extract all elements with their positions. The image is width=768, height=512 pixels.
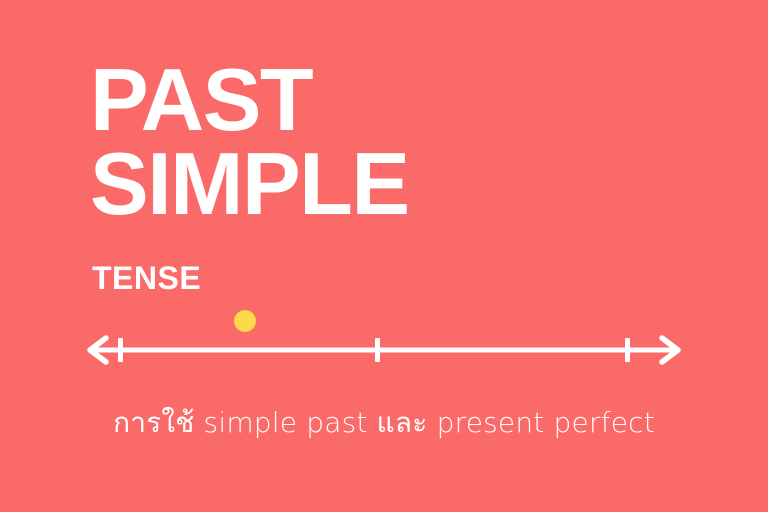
poster-canvas: PAST SIMPLE TENSE การใช้ simple past และ… — [0, 0, 768, 512]
timeline-tick-past — [118, 338, 123, 362]
timeline-svg — [84, 306, 684, 370]
timeline-tick-future — [625, 338, 630, 362]
title-line-past: PAST — [90, 58, 690, 142]
subtitle-tense: TENSE — [92, 262, 201, 294]
caption-text: การใช้ simple past และ present perfect — [0, 405, 768, 440]
title-line-simple: SIMPLE — [90, 142, 690, 226]
past-event-marker-icon — [234, 310, 256, 332]
timeline-graphic — [84, 306, 684, 370]
page-title: PAST SIMPLE — [90, 58, 690, 227]
timeline-axis-line — [92, 348, 676, 353]
timeline-tick-now — [375, 338, 380, 362]
